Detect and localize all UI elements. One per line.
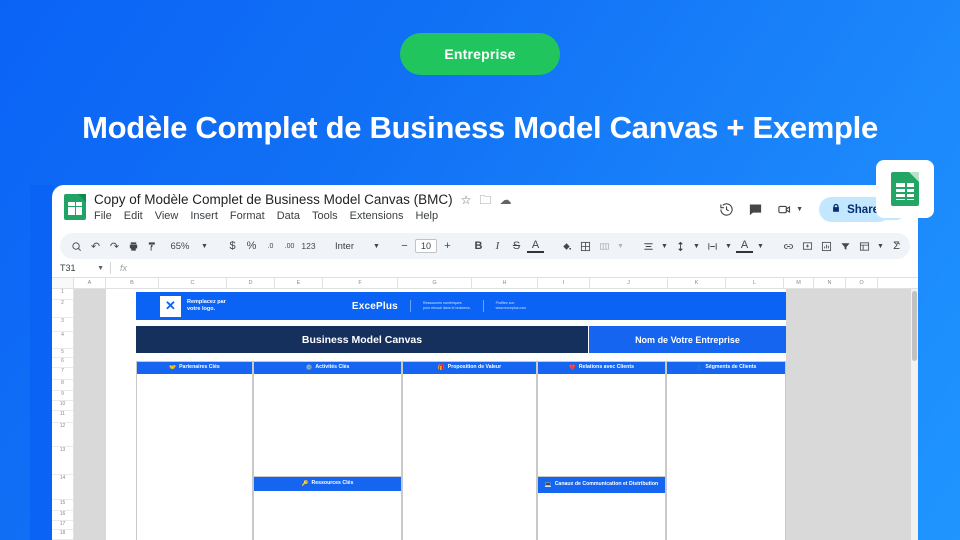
functions-chevron-down-icon[interactable]: ▼	[875, 236, 886, 256]
block-label: Canaux de Communication et Distribution	[555, 482, 658, 488]
block-label: Relations avec Clients	[579, 365, 634, 371]
italic-button[interactable]: I	[489, 236, 506, 256]
text-wrap-icon[interactable]	[704, 236, 721, 256]
print-icon[interactable]	[125, 236, 142, 256]
move-to-folder-icon[interactable]: 🗀	[479, 194, 491, 206]
sheets-badge-icon	[891, 172, 919, 206]
share-label: Share	[847, 204, 879, 216]
column-header-i[interactable]: I	[538, 278, 590, 288]
block-label: Proposition de Valeur	[448, 365, 501, 371]
row-header-17[interactable]: 17	[52, 521, 73, 530]
promo-badge-container: Entreprise	[0, 33, 960, 75]
column-no-shaded	[846, 289, 912, 540]
heart-icon: ❤️	[569, 365, 576, 371]
brand-tagline: Ressources numériquespour réussir dans l…	[423, 301, 471, 311]
block-body[interactable]	[538, 374, 665, 477]
column-m-shaded	[786, 289, 846, 540]
decrease-decimal-button[interactable]: .0	[262, 236, 279, 256]
scrollbar-thumb[interactable]	[912, 291, 917, 361]
increase-font-size-button[interactable]: +	[439, 236, 456, 256]
sheets-titlebar: Copy of Modèle Complet de Business Model…	[52, 185, 918, 231]
sheets-document-icon	[64, 194, 86, 220]
search-icon[interactable]	[68, 236, 85, 256]
block-body[interactable]	[137, 374, 252, 540]
menu-help[interactable]: Help	[415, 210, 438, 222]
menu-edit[interactable]: Edit	[124, 210, 143, 222]
menu-insert[interactable]: Insert	[190, 210, 218, 222]
number-format-button[interactable]: 123	[300, 236, 317, 256]
column-header-b[interactable]: B	[106, 278, 159, 288]
row-header-3[interactable]: 3	[52, 318, 73, 332]
block-header: 🤝 Partenaires Clés	[137, 362, 252, 374]
wrap-chevron-down-icon[interactable]: ▼	[723, 236, 734, 256]
column-header-c[interactable]: C	[159, 278, 227, 288]
strikethrough-button[interactable]: S	[508, 236, 525, 256]
merge-cells-icon[interactable]	[596, 236, 613, 256]
block-header: ⚙️ Activités Clés	[254, 362, 401, 374]
formula-bar: T31 ▼ fx	[52, 259, 918, 278]
menu-data[interactable]: Data	[277, 210, 300, 222]
cloud-saved-icon[interactable]: ☁	[499, 194, 511, 206]
sheets-toolbar: ↶ ↷ 65% ▼ $ % .0 .00 123 Inter ▼ − 10 + …	[60, 233, 910, 259]
canvas-sheet-area[interactable]: ✕ Remplacez parvotre logo. ExcePlus Ress…	[74, 289, 918, 540]
row-header-14[interactable]: 14	[52, 475, 73, 500]
menu-extensions[interactable]: Extensions	[350, 210, 404, 222]
block-label: Ségments de Clients	[705, 365, 756, 371]
block-label: Partenaires Clés	[179, 365, 220, 371]
block-header: 🎁 Proposition de Valeur	[403, 362, 536, 374]
page-title: Modèle Complet de Business Model Canvas …	[0, 110, 960, 146]
insert-chart-icon[interactable]	[818, 236, 835, 256]
column-b-cells	[106, 289, 136, 540]
row-header-16[interactable]: 16	[52, 511, 73, 521]
block-body[interactable]	[254, 491, 401, 540]
column-header-m[interactable]: M	[784, 278, 814, 288]
brand-website: Profitez sur:www.exceplus.com	[496, 301, 527, 311]
brand-name: ExcePlus	[352, 301, 398, 312]
vertical-align-icon[interactable]	[672, 236, 689, 256]
fill-color-icon[interactable]	[558, 236, 575, 256]
row-header-5[interactable]: 5	[52, 349, 73, 358]
select-all-corner[interactable]	[52, 278, 74, 288]
block-relations-avec-clients[interactable]: ❤️ Relations avec Clients	[537, 361, 666, 476]
column-header-g[interactable]: G	[398, 278, 472, 288]
column-headers: A B C D E F G H I J K L M N O	[52, 278, 918, 289]
column-header-d[interactable]: D	[227, 278, 275, 288]
google-sheets-window: Copy of Modèle Complet de Business Model…	[52, 185, 918, 540]
handshake-icon: 🤝	[169, 365, 176, 371]
banner-divider	[410, 300, 411, 312]
block-segments-de-clients[interactable]: 👤 Ségments de Clients	[666, 361, 786, 540]
paint-format-icon[interactable]	[144, 236, 161, 256]
column-header-h[interactable]: H	[472, 278, 538, 288]
key-icon: 🔑	[302, 481, 309, 487]
version-history-icon[interactable]	[719, 202, 734, 217]
block-body[interactable]	[403, 374, 536, 540]
block-partenaires-cles[interactable]: 🤝 Partenaires Clés	[136, 361, 253, 540]
computer-icon: 💻	[545, 482, 552, 488]
star-icon[interactable]: ☆	[461, 194, 472, 206]
column-a-shaded	[74, 289, 106, 540]
filter-icon[interactable]	[837, 236, 854, 256]
column-header-n[interactable]: N	[814, 278, 846, 288]
text-color-button[interactable]: A	[527, 240, 544, 253]
document-title[interactable]: Copy of Modèle Complet de Business Model…	[94, 192, 453, 207]
zoom-chevron-down-icon[interactable]: ▼	[199, 236, 210, 256]
currency-format-button[interactable]: $	[224, 236, 241, 256]
block-body[interactable]	[538, 493, 665, 540]
rotation-chevron-down-icon[interactable]: ▼	[755, 236, 766, 256]
logo-caption: Remplacez parvotre logo.	[187, 299, 226, 314]
block-activites-cles[interactable]: ⚙️ Activités Clés	[253, 361, 402, 476]
font-size-input[interactable]: 10	[415, 239, 437, 253]
menu-format[interactable]: Format	[230, 210, 265, 222]
gift-icon: 🎁	[438, 365, 445, 371]
insert-link-icon[interactable]	[780, 236, 797, 256]
row-header-9[interactable]: 9	[52, 391, 73, 401]
promo-badge[interactable]: Entreprise	[400, 33, 560, 75]
menu-view[interactable]: View	[155, 210, 179, 222]
row-header-1[interactable]: 1	[52, 289, 73, 300]
gear-icon: ⚙️	[306, 365, 313, 371]
grid-body: 1 2 3 4 5 6 7 8 9 10 11 12 13 14 15 16 1…	[52, 289, 918, 540]
menu-tools[interactable]: Tools	[312, 210, 338, 222]
block-header: 👤 Ségments de Clients	[667, 362, 785, 374]
logo-placeholder-icon: ✕	[160, 296, 181, 317]
row-header-4[interactable]: 4	[52, 332, 73, 349]
column-header-f[interactable]: F	[323, 278, 398, 288]
company-banner: ✕ Remplacez parvotre logo. ExcePlus Ress…	[136, 292, 786, 320]
column-header-e[interactable]: E	[275, 278, 323, 288]
text-rotation-icon[interactable]: A	[736, 240, 753, 253]
meet-chevron-down-icon[interactable]: ▼	[794, 200, 805, 220]
block-canaux-de-communication[interactable]: 💻 Canaux de Communication et Distributio…	[537, 476, 666, 540]
insert-comment-icon[interactable]	[799, 236, 816, 256]
zoom-value[interactable]: 65%	[163, 236, 197, 256]
block-label: Ressources Clés	[312, 481, 354, 487]
undo-icon[interactable]: ↶	[87, 236, 104, 256]
banner-divider	[483, 300, 484, 312]
row-header-10[interactable]: 10	[52, 401, 73, 411]
name-box-chevron-down-icon[interactable]: ▼	[97, 265, 104, 272]
row-header-12[interactable]: 12	[52, 423, 73, 447]
font-chevron-down-icon[interactable]: ▼	[371, 236, 382, 256]
logo-glyph: ✕	[165, 298, 176, 314]
column-header-a[interactable]: A	[74, 278, 106, 288]
lock-icon	[831, 203, 841, 216]
row-header-18[interactable]: 18	[52, 530, 73, 540]
row-header-8[interactable]: 8	[52, 380, 73, 391]
block-ressources-cles[interactable]: 🔑 Ressources Clés	[253, 476, 402, 540]
fx-icon: fx	[111, 263, 127, 273]
column-header-l[interactable]: L	[726, 278, 784, 288]
person-icon: 👤	[696, 365, 703, 371]
company-name-cell[interactable]: Nom de Votre Entreprise	[589, 326, 786, 353]
row-header-7[interactable]: 7	[52, 368, 73, 380]
comment-icon[interactable]	[748, 202, 763, 217]
row-header-6[interactable]: 6	[52, 358, 73, 368]
column-header-o[interactable]: O	[846, 278, 878, 288]
vertical-scrollbar[interactable]	[911, 289, 918, 540]
row-header-13[interactable]: 13	[52, 447, 73, 475]
collapse-toolbar-icon[interactable]: ⌃	[894, 241, 902, 252]
block-body[interactable]	[254, 374, 401, 477]
horizontal-align-icon[interactable]	[640, 236, 657, 256]
merge-chevron-down-icon[interactable]: ▼	[615, 236, 626, 256]
sheets-app-badge	[876, 160, 934, 218]
row-headers: 1 2 3 4 5 6 7 8 9 10 11 12 13 14 15 16 1…	[52, 289, 74, 540]
canvas-title: Business Model Canvas	[136, 326, 588, 353]
redo-icon[interactable]: ↷	[106, 236, 123, 256]
block-header: 🔑 Ressources Clés	[254, 477, 401, 491]
halign-chevron-down-icon[interactable]: ▼	[659, 236, 670, 256]
valign-chevron-down-icon[interactable]: ▼	[691, 236, 702, 256]
name-box[interactable]: T31 ▼	[52, 263, 110, 273]
increase-decimal-button[interactable]: .00	[281, 236, 298, 256]
block-header: ❤️ Relations avec Clients	[538, 362, 665, 374]
row-header-11[interactable]: 11	[52, 411, 73, 423]
block-header: 💻 Canaux de Communication et Distributio…	[538, 477, 665, 493]
meet-button[interactable]: ▼	[777, 200, 805, 220]
column-header-j[interactable]: J	[590, 278, 668, 288]
block-label: Activités Clés	[315, 365, 349, 371]
row-header-15[interactable]: 15	[52, 500, 73, 511]
percent-format-button[interactable]: %	[243, 236, 260, 256]
column-header-k[interactable]: K	[668, 278, 726, 288]
menu-file[interactable]: File	[94, 210, 112, 222]
font-family-select[interactable]: Inter	[331, 241, 369, 252]
block-body[interactable]	[667, 374, 785, 540]
bold-button[interactable]: B	[470, 236, 487, 256]
decrease-font-size-button[interactable]: −	[396, 236, 413, 256]
row-header-2[interactable]: 2	[52, 300, 73, 318]
block-proposition-de-valeur[interactable]: 🎁 Proposition de Valeur	[402, 361, 537, 540]
spreadsheet-grid: A B C D E F G H I J K L M N O 1 2 3 4 5 …	[52, 278, 918, 540]
name-box-value: T31	[60, 263, 76, 273]
borders-icon[interactable]	[577, 236, 594, 256]
left-accent-strip	[30, 185, 54, 540]
functions-icon[interactable]	[856, 236, 873, 256]
